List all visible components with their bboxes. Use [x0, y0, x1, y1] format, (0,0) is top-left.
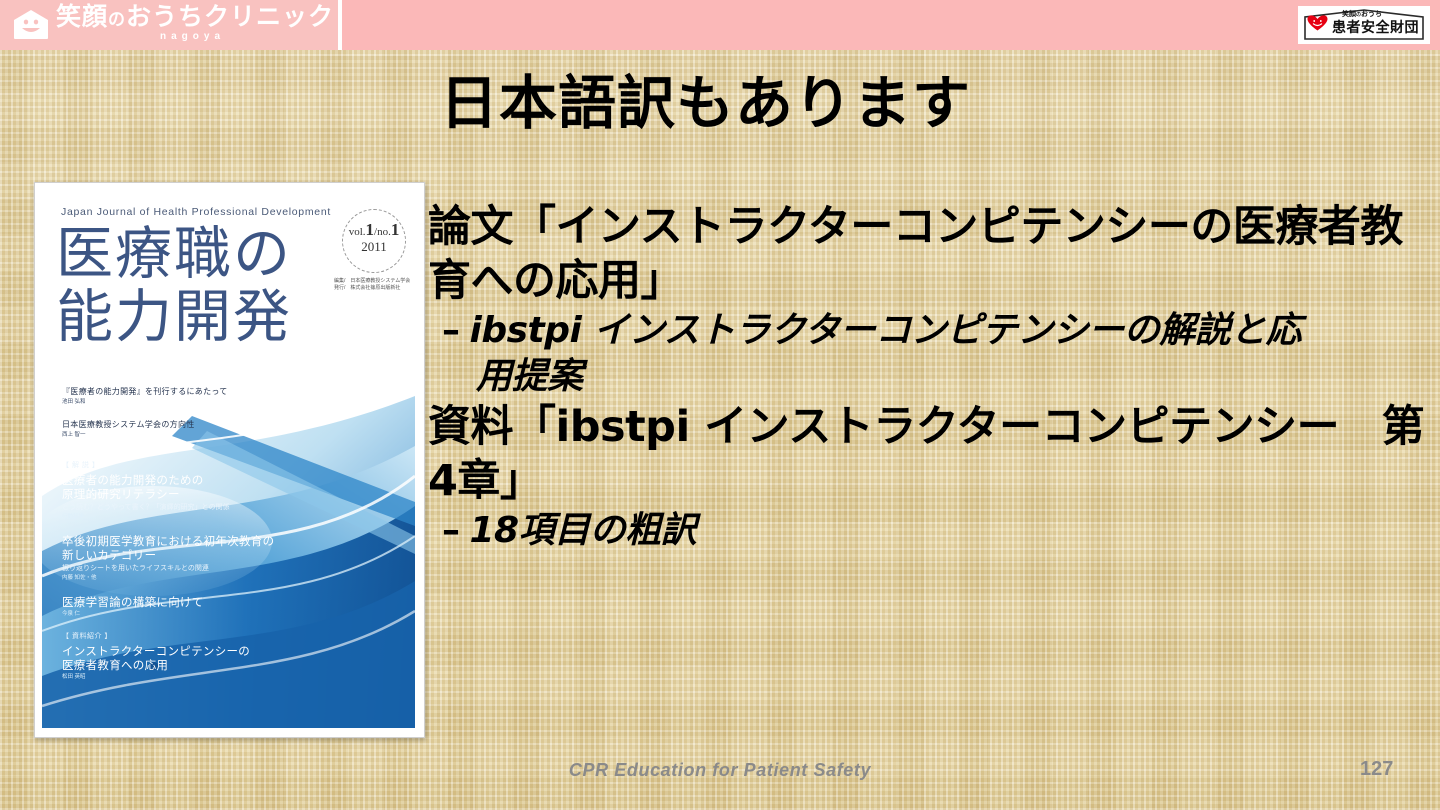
clinic-name-no: の [108, 10, 126, 29]
clinic-subtitle: nagoya [160, 31, 225, 42]
bullet-level2-text: ibstpi インストラクターコンピテンシーの解説と応 [470, 310, 1302, 351]
journal-issue-year: 2011 [343, 239, 405, 255]
toc-entry-subtitle: どう読む？どうやって書く？「演繹的研究」との関係 [62, 503, 312, 512]
journal-cover-image: Japan Journal of Health Professional Dev… [34, 182, 425, 738]
badge-no-number: 1 [391, 220, 400, 239]
toc-entry-author: 内藤 知佐・他 [62, 574, 312, 582]
bullet-dash: – [442, 510, 470, 551]
toc-entry-author: 西上 智一 [62, 431, 312, 439]
bullet-level1: 資料「ibstpi インストラクターコンピテンシー 第4章」 [428, 400, 1428, 508]
toc-entry-title: 『医療者の能力開発』を刊行するにあたって [62, 386, 312, 397]
publisher-line-2: 発行/ 株式会社篠原出版新社 [334, 285, 410, 292]
toc-entry-author: 行動科学 [62, 513, 312, 521]
header-divider [338, 0, 342, 50]
toc-entry-section: 【 解 説 】 [62, 460, 312, 470]
slide-footer-text: CPR Education for Patient Safety [0, 760, 1440, 781]
clinic-name-main: 笑顔 [56, 3, 108, 31]
smiling-heart-icon [1307, 15, 1328, 31]
journal-japanese-title: 医療職の 能力開発 [56, 223, 292, 349]
toc-entry-title-line-2: 新しいカテゴリー [62, 548, 312, 562]
publisher-line-1: 編集/ 日本医療教授システム学会 [334, 278, 410, 285]
cover-toc-top: 『医療者の能力開発』を刊行するにあたって 池田 弘和 日本医療教授システム学会の… [62, 386, 312, 452]
toc-entry: 卒後初期医学教育における初年次教育の 新しいカテゴリー 振り返りシートを用いたラ… [62, 534, 312, 582]
badge-vol-label: vol. [349, 226, 366, 238]
smiling-house-icon [13, 9, 49, 40]
toc-entry-author: 今泉 仁 [62, 610, 312, 618]
toc-entry-author: 松田 英昭 [62, 673, 312, 681]
badge-no-label: no. [377, 226, 391, 238]
journal-english-title: Japan Journal of Health Professional Dev… [61, 206, 331, 218]
toc-entry-title-line-1: 医療学習論の構築に向けて [62, 595, 312, 609]
toc-entry: 医療学習論の構築に向けて 今泉 仁 [62, 595, 312, 618]
toc-entry-section: 【 資料紹介 】 [62, 631, 312, 641]
slide-page-number: 127 [1360, 758, 1393, 781]
bullet-level1: 論文「インストラクターコンピテンシーの医療者教育への応用」 [428, 200, 1428, 308]
bullet-level2: –ibstpi インストラクターコンピテンシーの解説と応用提案 [428, 308, 1428, 400]
toc-entry-title-line-1: インストラクターコンピテンシーの [62, 644, 312, 658]
presentation-slide: 笑顔のおうちクリニック nagoya 笑顔のおうち 患者安全財団 Japan J… [0, 0, 1440, 810]
bullet-level2: –18項目の粗訳 [428, 508, 1428, 554]
toc-entry-title-line-2: 医療者教育への応用 [62, 658, 312, 672]
cover-toc-main: 【 解 説 】 医療者の能力開発のための 原理的研究リテラシー どう読む？どうや… [62, 460, 312, 694]
journal-title-line-1: 医療職の [56, 223, 292, 286]
toc-entry-title-line-1: 医療者の能力開発のための [62, 473, 312, 487]
toc-entry-title: 日本医療教授システム学会の方向性 [62, 419, 312, 430]
toc-entry: 日本医療教授システム学会の方向性 西上 智一 [62, 419, 312, 439]
bullet-level2-continuation: 用提案 [446, 354, 583, 400]
toc-entry-title-line-2: 原理的研究リテラシー [62, 487, 312, 501]
journal-publisher-note: 編集/ 日本医療教授システム学会 発行/ 株式会社篠原出版新社 [334, 278, 410, 292]
journal-cover-frame: Japan Journal of Health Professional Dev… [42, 190, 415, 728]
toc-entry-author: 池田 弘和 [62, 398, 312, 406]
toc-entry-title-line-1: 卒後初期医学教育における初年次教育の [62, 534, 312, 548]
journal-issue-volume: vol.1/no.1 [343, 223, 405, 239]
toc-entry: 【 解 説 】 医療者の能力開発のための 原理的研究リテラシー どう読む？どうや… [62, 460, 312, 521]
bullet-dash: – [442, 310, 470, 351]
slide-header-bar: 笑顔のおうちクリニック nagoya 笑顔のおうち 患者安全財団 [0, 0, 1440, 50]
slide-title: 日本語訳もあります [440, 68, 971, 138]
foundation-logo: 笑顔のおうち 患者安全財団 [1298, 6, 1430, 44]
badge-vol-number: 1 [366, 220, 375, 239]
slide-body: 論文「インストラクターコンピテンシーの医療者教育への応用」 –ibstpi イン… [428, 200, 1428, 554]
clinic-name-rest: おうちクリニック [126, 3, 334, 31]
bullet-level2-text: 18項目の粗訳 [470, 510, 697, 551]
journal-issue-badge: vol.1/no.1 2011 [342, 209, 406, 273]
toc-entry-subtitle: 振り返りシートを用いたライフスキルとの関連 [62, 564, 312, 573]
toc-entry: 【 資料紹介 】 インストラクターコンピテンシーの 医療者教育への応用 松田 英… [62, 631, 312, 681]
toc-entry: 『医療者の能力開発』を刊行するにあたって 池田 弘和 [62, 386, 312, 406]
foundation-name: 患者安全財団 [1332, 17, 1419, 37]
journal-title-line-2: 能力開発 [56, 286, 292, 349]
clinic-name: 笑顔のおうちクリニック [56, 3, 334, 34]
